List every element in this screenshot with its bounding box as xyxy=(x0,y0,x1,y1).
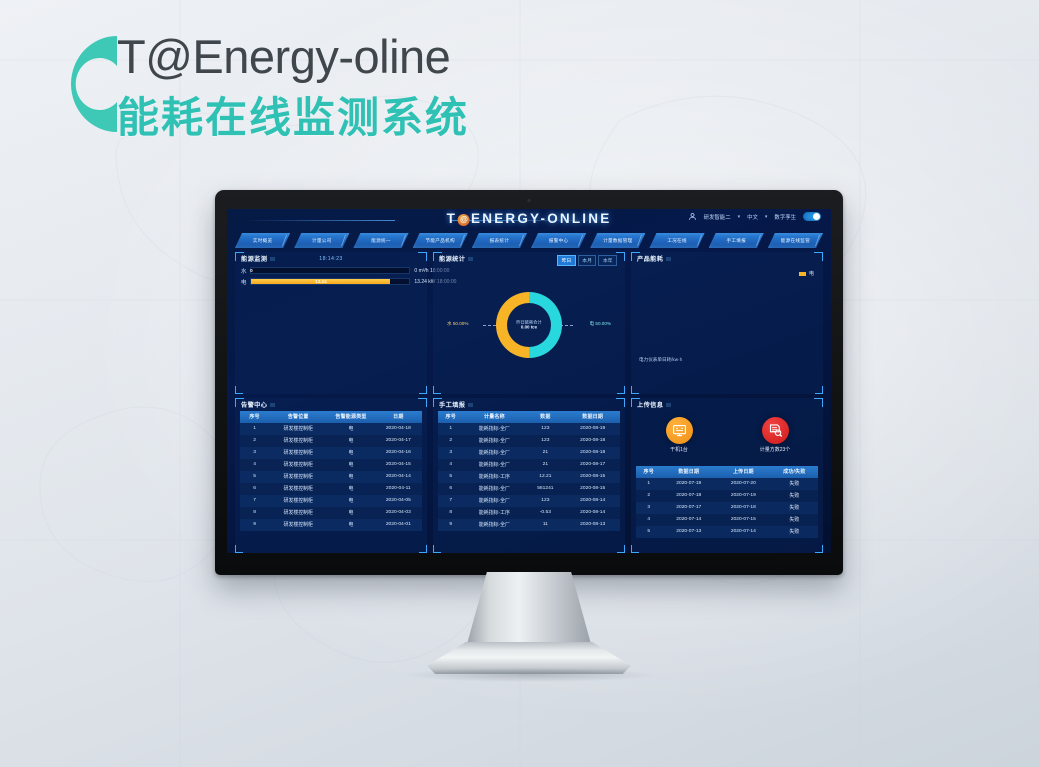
dot-grid-icon-6 xyxy=(666,403,671,407)
table-row[interactable]: 9研发楼控制柜电2020-04-01 xyxy=(240,519,422,531)
table-cell: 能耗指标-工序 xyxy=(463,471,525,483)
panel-body-energy-monitor: 水 0 0 m³/h 18:00:00 电 xyxy=(235,265,427,394)
digital-twin-label: 数字孪生 xyxy=(774,213,796,221)
panel-header-alarm-center: 告警中心 xyxy=(235,398,427,411)
table-cell: 12.21 xyxy=(525,471,565,483)
table-cell: 2020-08-14 xyxy=(565,495,620,507)
table-row[interactable]: 4能耗指标-全厂212020-08-17 xyxy=(438,459,620,471)
monitor-stand-neck xyxy=(467,572,591,644)
table-cell: 电 xyxy=(327,483,374,495)
dot-grid-icon-4 xyxy=(270,403,275,407)
table-cell: 能耗指标-全厂 xyxy=(463,435,525,447)
table-cell: 4 xyxy=(438,459,463,471)
energy-row-electricity: 电 13.24 13.24 kW 18:00:00 xyxy=(235,276,427,287)
table-cell: 4 xyxy=(240,459,269,471)
user-name: 研发智能二 xyxy=(704,213,731,221)
table-cell: 失败 xyxy=(771,514,818,526)
table-cell: 研发楼控制柜 xyxy=(269,507,327,519)
table-row[interactable]: 8能耗指标-工序-0.532020-08-14 xyxy=(438,507,620,519)
table-cell: 2020-04-16 xyxy=(375,447,422,459)
nav-item-7[interactable]: 工况在线 xyxy=(649,233,704,248)
table-cell: 2020-04-11 xyxy=(375,483,422,495)
manual-entry-table-wrap[interactable]: 序号计量名称数据数据日期 1能耗指标-全厂1232020-08-192能耗指标-… xyxy=(438,411,620,553)
manual-entry-table: 序号计量名称数据数据日期 1能耗指标-全厂1232020-08-192能耗指标-… xyxy=(438,411,620,531)
column-header: 计量名称 xyxy=(463,411,525,423)
column-header: 序号 xyxy=(438,411,463,423)
table-cell: 2 xyxy=(438,435,463,447)
table-cell: -0.53 xyxy=(525,507,565,519)
energy-row-water-bar: 0 xyxy=(250,267,410,275)
panel-upload-info: 上传信息 xyxy=(631,398,823,553)
column-header: 序号 xyxy=(636,466,661,478)
table-cell: 2020-07-13 xyxy=(661,526,716,538)
table-row[interactable]: 9能耗指标-全厂112020-08-13 xyxy=(438,519,620,531)
chevron-down-icon-2[interactable]: ▾ xyxy=(765,214,768,220)
table-header-row: 序号告警位置告警能源类型日期 xyxy=(240,411,422,423)
table-cell: 5 xyxy=(438,471,463,483)
donut-center-line2: 0.00 tce xyxy=(516,325,541,331)
table-cell: 5 xyxy=(240,471,269,483)
table-row[interactable]: 8研发楼控制柜电2020-04-03 xyxy=(240,507,422,519)
table-header-row: 序号数据日期上传日期成功/失败 xyxy=(636,466,818,478)
table-cell: 失败 xyxy=(771,478,818,490)
legend-swatch-electricity xyxy=(799,272,806,276)
table-cell: 研发楼控制柜 xyxy=(269,459,327,471)
panel-title-energy-monitor: 能源监测 xyxy=(241,254,267,263)
table-cell: 2020-08-18 xyxy=(565,435,620,447)
table-cell: 5 xyxy=(636,526,661,538)
panel-product-energy: 产品能耗 电 电力仪表单日耗/kw·h xyxy=(631,252,823,394)
product-energy-axis-note: 电力仪表单日耗/kw·h xyxy=(639,357,682,363)
dashboard-title-suffix: ENERGY-ONLINE xyxy=(471,211,611,226)
table-row[interactable]: 22020-07-182020-07-19失败 xyxy=(636,490,818,502)
table-cell: 2020-04-18 xyxy=(375,423,422,435)
table-cell: 7 xyxy=(438,495,463,507)
tab-yesterday[interactable]: 昨日 xyxy=(557,255,576,266)
table-cell: 电 xyxy=(327,447,374,459)
table-cell: 2020-08-15 xyxy=(565,483,620,495)
table-cell: 123 xyxy=(525,495,565,507)
panel-energy-monitor: 能源监测 18:14:23 水 0 xyxy=(235,252,427,394)
table-cell: 研发楼控制柜 xyxy=(269,447,327,459)
panel-row-top: 能源监测 18:14:23 水 0 xyxy=(235,252,823,394)
table-row[interactable]: 1能耗指标-全厂1232020-08-19 xyxy=(438,423,620,435)
table-cell: 失败 xyxy=(771,502,818,514)
at-symbol-icon: @ xyxy=(458,214,470,226)
table-cell: 2020-08-17 xyxy=(565,459,620,471)
table-row[interactable]: 1研发楼控制柜电2020-04-18 xyxy=(240,423,422,435)
energy-row-water: 水 0 0 m³/h 18:00:00 xyxy=(235,265,427,276)
webcam-icon xyxy=(527,198,532,203)
user-icon xyxy=(688,212,697,221)
table-row[interactable]: 5研发楼控制柜电2020-04-14 xyxy=(240,471,422,483)
table-cell: 21 xyxy=(525,447,565,459)
table-row[interactable]: 52020-07-132020-07-14失败 xyxy=(636,526,818,538)
table-cell: 561241 xyxy=(525,483,565,495)
monitor-bezel: T@ENERGY-ONLINE 研发智能二 ▾ 中文 ▾ 数字孪生 xyxy=(215,190,843,575)
column-header: 数据日期 xyxy=(565,411,620,423)
monitor-screen: T@ENERGY-ONLINE 研发智能二 ▾ 中文 ▾ 数字孪生 xyxy=(227,209,831,553)
table-row[interactable]: 7研发楼控制柜电2020-04-05 xyxy=(240,495,422,507)
donut-center-label: 昨日能耗合计 0.00 tce xyxy=(516,320,541,331)
donut-label-electricity: 电 50.00% xyxy=(590,321,611,327)
dot-grid-icon xyxy=(270,257,275,261)
table-cell: 3 xyxy=(636,502,661,514)
table-cell: 失败 xyxy=(771,490,818,502)
monitor-shadow xyxy=(404,668,654,682)
column-header: 上传日期 xyxy=(716,466,771,478)
main-nav[interactable]: 实时概览 计量公司 能源统一 节能产品机构 报表统计 报警中心 计量数据管理 工… xyxy=(235,233,823,248)
energy-row-water-bar-value: 0 xyxy=(250,268,253,273)
column-header: 日期 xyxy=(375,411,422,423)
table-cell: 1 xyxy=(636,478,661,490)
nav-item-3[interactable]: 节能产品机构 xyxy=(413,233,468,248)
panel-row-bottom: 告警中心 序号告警位置告警能源类型日期 1研发楼控制柜电2020-04-182研… xyxy=(235,398,823,553)
upload-info-table: 序号数据日期上传日期成功/失败 12020-07-192020-07-20失败2… xyxy=(636,466,818,538)
table-row[interactable]: 6能耗指标-全厂5612412020-08-15 xyxy=(438,483,620,495)
energy-stats-tabs[interactable]: 昨日 本月 本年 xyxy=(557,255,617,266)
table-cell: 研发楼控制柜 xyxy=(269,471,327,483)
table-cell: 电 xyxy=(327,423,374,435)
table-row[interactable]: 4研发楼控制柜电2020-04-15 xyxy=(240,459,422,471)
table-cell: 能耗指标-全厂 xyxy=(463,423,525,435)
panel-header-product-energy: 产品能耗 xyxy=(631,252,823,265)
energy-row-electricity-bar: 13.24 xyxy=(250,278,410,286)
product-energy-legend: 电 xyxy=(799,270,814,277)
brand-block: T@Energy-oline 能耗在线监测系统 xyxy=(55,24,615,154)
language-menu[interactable]: 中文 xyxy=(747,213,758,221)
column-header: 告警位置 xyxy=(269,411,327,423)
table-cell: 4 xyxy=(636,514,661,526)
table-row[interactable]: 3能耗指标-全厂212020-08-18 xyxy=(438,447,620,459)
panel-alarm-center: 告警中心 序号告警位置告警能源类型日期 1研发楼控制柜电2020-04-182研… xyxy=(235,398,427,553)
panel-title-product-energy: 产品能耗 xyxy=(637,254,663,263)
dashboard-header: T@ENERGY-ONLINE 研发智能二 ▾ 中文 ▾ 数字孪生 xyxy=(227,209,831,233)
table-cell: 9 xyxy=(438,519,463,531)
table-cell: 9 xyxy=(240,519,269,531)
energy-row-electricity-label: 电 xyxy=(241,278,246,286)
table-row[interactable]: 42020-07-142020-07-15失败 xyxy=(636,514,818,526)
table-cell: 6 xyxy=(438,483,463,495)
table-cell: 2020-08-18 xyxy=(565,447,620,459)
table-cell: 电 xyxy=(327,459,374,471)
table-cell: 2020-07-15 xyxy=(716,514,771,526)
alarm-center-table-wrap[interactable]: 序号告警位置告警能源类型日期 1研发楼控制柜电2020-04-182研发楼控制柜… xyxy=(240,411,422,553)
table-cell: 2 xyxy=(240,435,269,447)
table-cell: 11 xyxy=(525,519,565,531)
table-cell: 2020-07-14 xyxy=(661,514,716,526)
table-cell: 能耗指标-全厂 xyxy=(463,459,525,471)
dashboard-title-prefix: T xyxy=(447,211,457,226)
dot-grid-icon-3 xyxy=(666,257,671,261)
panel-title-energy-stats: 能源统计 xyxy=(439,254,465,263)
table-cell: 8 xyxy=(240,507,269,519)
table-cell: 2020-07-20 xyxy=(716,478,771,490)
table-row[interactable]: 6研发楼控制柜电2020-04-11 xyxy=(240,483,422,495)
kpi-devices[interactable]: 干机1台 xyxy=(648,417,710,453)
table-row[interactable]: 32020-07-172020-07-18失败 xyxy=(636,502,818,514)
table-cell: 7 xyxy=(240,495,269,507)
brand-title-cn: 能耗在线监测系统 xyxy=(117,90,469,146)
table-cell: 2020-07-19 xyxy=(661,478,716,490)
table-cell: 能耗指标-全厂 xyxy=(463,495,525,507)
dashboard-title: T@ENERGY-ONLINE xyxy=(447,211,612,226)
chevron-down-icon[interactable]: ▾ xyxy=(738,214,741,220)
document-search-icon xyxy=(762,417,789,444)
table-cell: 2020-07-18 xyxy=(716,502,771,514)
panel-manual-entry: 手工填报 序号计量名称数据数据日期 1能耗指标-全厂1232020-08-192… xyxy=(433,398,625,553)
energy-monitor-clock: 18:14:23 xyxy=(319,256,342,262)
table-cell: 8 xyxy=(438,507,463,519)
panel-header-energy-monitor: 能源监测 18:14:23 xyxy=(235,252,427,265)
table-cell: 2020-07-14 xyxy=(716,526,771,538)
panel-body-upload-info: 干机1台 xyxy=(631,411,823,553)
table-cell: 123 xyxy=(525,435,565,447)
alarm-center-table: 序号告警位置告警能源类型日期 1研发楼控制柜电2020-04-182研发楼控制柜… xyxy=(240,411,422,531)
upload-kpis: 干机1台 xyxy=(631,411,823,454)
tab-year[interactable]: 本年 xyxy=(598,255,617,266)
panel-title-manual-entry: 手工填报 xyxy=(439,400,465,409)
table-cell: 2020-07-17 xyxy=(661,502,716,514)
panel-title-upload-info: 上传信息 xyxy=(637,400,663,409)
nav-item-9[interactable]: 能源在线监管 xyxy=(768,233,823,248)
tab-month[interactable]: 本月 xyxy=(578,255,597,266)
table-row[interactable]: 3研发楼控制柜电2020-04-16 xyxy=(240,447,422,459)
upload-info-table-wrap[interactable]: 序号数据日期上传日期成功/失败 12020-07-192020-07-20失败2… xyxy=(636,466,818,551)
energy-stats-donut-chart: 水 50.00% 电 50.00% 昨日能耗合计 0.00 tce xyxy=(433,266,625,394)
dashboard: T@ENERGY-ONLINE 研发智能二 ▾ 中文 ▾ 数字孪生 xyxy=(227,209,831,553)
kpi-devices-label: 干机1台 xyxy=(648,446,710,453)
table-row[interactable]: 2研发楼控制柜电2020-04-17 xyxy=(240,435,422,447)
kpi-meters-label: 计量方数23个 xyxy=(744,446,806,453)
column-header: 数据日期 xyxy=(661,466,716,478)
table-cell: 研发楼控制柜 xyxy=(269,435,327,447)
panel-energy-stats: 能源统计 昨日 本月 本年 水 50.00% 电 50.00% xyxy=(433,252,625,394)
monitor-icon xyxy=(666,417,693,444)
dot-grid-icon-2 xyxy=(468,257,473,261)
header-rule-left xyxy=(245,220,395,221)
table-cell: 电 xyxy=(327,519,374,531)
digital-twin-toggle[interactable] xyxy=(803,212,821,221)
table-cell: 123 xyxy=(525,423,565,435)
column-header: 告警能源类型 xyxy=(327,411,374,423)
table-cell: 研发楼控制柜 xyxy=(269,495,327,507)
brand-title-en: T@Energy-oline xyxy=(117,24,469,90)
table-cell: 2020-04-03 xyxy=(375,507,422,519)
c-arc-logo xyxy=(55,28,123,140)
table-cell: 2020-04-15 xyxy=(375,459,422,471)
table-row[interactable]: 2能耗指标-全厂1232020-08-18 xyxy=(438,435,620,447)
table-row[interactable]: 7能耗指标-全厂1232020-08-14 xyxy=(438,495,620,507)
table-cell: 1 xyxy=(438,423,463,435)
panel-body-product-energy: 电 电力仪表单日耗/kw·h xyxy=(631,265,823,394)
donut-label-water: 水 50.00% xyxy=(447,321,468,327)
table-cell: 2020-08-14 xyxy=(565,507,620,519)
table-cell: 3 xyxy=(438,447,463,459)
nav-item-8[interactable]: 手工填报 xyxy=(709,233,764,248)
nav-item-0[interactable]: 实时概览 xyxy=(235,233,290,248)
legend-label-electricity: 电 xyxy=(809,270,814,277)
table-cell: 2020-04-05 xyxy=(375,495,422,507)
table-cell: 2020-04-01 xyxy=(375,519,422,531)
table-cell: 2020-04-14 xyxy=(375,471,422,483)
user-area[interactable]: 研发智能二 ▾ 中文 ▾ 数字孪生 xyxy=(688,212,821,221)
table-cell: 电 xyxy=(327,471,374,483)
kpi-meters[interactable]: 计量方数23个 xyxy=(744,417,806,453)
table-cell: 研发楼控制柜 xyxy=(269,423,327,435)
table-cell: 能耗指标-工序 xyxy=(463,507,525,519)
monitor: T@ENERGY-ONLINE 研发智能二 ▾ 中文 ▾ 数字孪生 xyxy=(215,190,843,575)
table-cell: 研发楼控制柜 xyxy=(269,519,327,531)
nav-item-2[interactable]: 能源统一 xyxy=(353,233,408,248)
energy-row-water-label: 水 xyxy=(241,267,246,275)
table-cell: 6 xyxy=(240,483,269,495)
column-header: 成功/失败 xyxy=(771,466,818,478)
table-cell: 2020-08-15 xyxy=(565,471,620,483)
panel-header-upload-info: 上传信息 xyxy=(631,398,823,411)
table-cell: 失败 xyxy=(771,526,818,538)
nav-item-6[interactable]: 计量数据管理 xyxy=(590,233,645,248)
nav-item-5[interactable]: 报警中心 xyxy=(531,233,586,248)
column-header: 序号 xyxy=(240,411,269,423)
energy-row-electricity-bar-value: 13.24 xyxy=(315,279,327,284)
nav-item-4[interactable]: 报表统计 xyxy=(472,233,527,248)
table-cell: 2020-08-13 xyxy=(565,519,620,531)
table-cell: 电 xyxy=(327,507,374,519)
table-cell: 1 xyxy=(240,423,269,435)
table-cell: 电 xyxy=(327,435,374,447)
nav-item-1[interactable]: 计量公司 xyxy=(294,233,349,248)
dot-grid-icon-5 xyxy=(468,403,473,407)
panel-header-manual-entry: 手工填报 xyxy=(433,398,625,411)
table-row[interactable]: 5能耗指标-工序12.212020-08-15 xyxy=(438,471,620,483)
table-cell: 研发楼控制柜 xyxy=(269,483,327,495)
table-cell: 2020-07-19 xyxy=(716,490,771,502)
table-cell: 2020-07-18 xyxy=(661,490,716,502)
table-cell: 能耗指标-全厂 xyxy=(463,519,525,531)
table-cell: 2020-04-17 xyxy=(375,435,422,447)
table-row[interactable]: 12020-07-192020-07-20失败 xyxy=(636,478,818,490)
table-cell: 能耗指标-全厂 xyxy=(463,483,525,495)
table-cell: 能耗指标-全厂 xyxy=(463,447,525,459)
table-cell: 3 xyxy=(240,447,269,459)
table-cell: 21 xyxy=(525,459,565,471)
table-header-row: 序号计量名称数据数据日期 xyxy=(438,411,620,423)
table-cell: 2020-08-19 xyxy=(565,423,620,435)
column-header: 数据 xyxy=(525,411,565,423)
table-cell: 2 xyxy=(636,490,661,502)
table-cell: 电 xyxy=(327,495,374,507)
panel-title-alarm-center: 告警中心 xyxy=(241,400,267,409)
